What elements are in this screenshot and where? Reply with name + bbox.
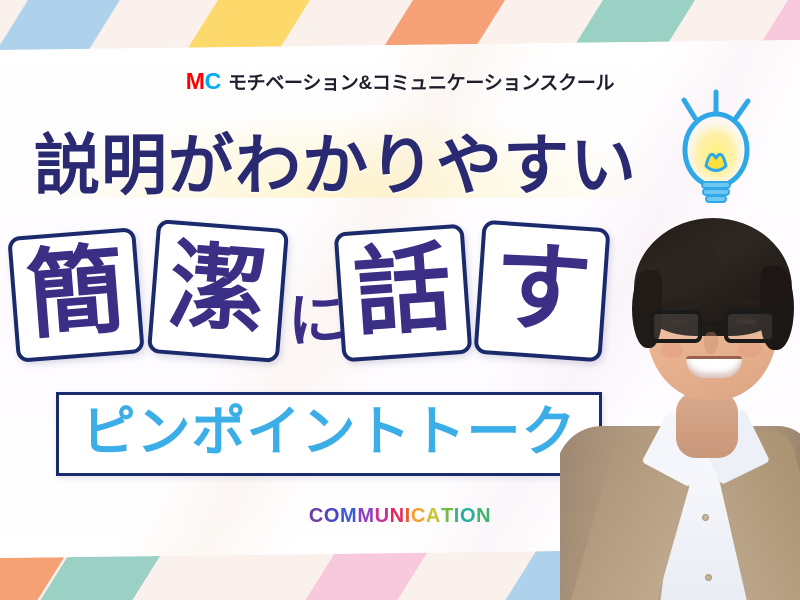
wordmark-letter: N (476, 505, 491, 528)
logo-letter-m: M (186, 68, 205, 94)
kanji-box-3: 話 (334, 224, 473, 363)
glasses-bridge (702, 322, 724, 326)
neck (676, 392, 738, 458)
logo-school-name: モチベーション&コミュニケーションスクール (221, 73, 614, 94)
wordmark-letter: T (441, 505, 454, 528)
kanji-box-2: 潔 (147, 219, 289, 363)
stripe (188, 548, 530, 600)
kanji-char-3: 話 (351, 238, 455, 342)
wordmark-letter: M (340, 505, 357, 528)
kanji-box-1: 簡 (7, 227, 144, 363)
nose (704, 332, 718, 354)
shirt-button-1 (702, 514, 709, 521)
shirt-button-2 (705, 574, 712, 581)
wordmark-letter: O (460, 505, 476, 528)
subtitle-text: ピンポイントトーク (82, 405, 577, 459)
wordmark-letter: C (411, 505, 426, 528)
stripe (0, 0, 220, 52)
wordmark-letter: N (390, 505, 405, 528)
lightbulb-icon (662, 84, 774, 204)
wordmark-letter: M (357, 505, 374, 528)
smiling-mouth (686, 356, 742, 378)
instructor-photo (560, 196, 800, 600)
kanji-phrase-row: 簡 潔 に 話 す (0, 214, 640, 374)
banner-canvas: MCモチベーション&コミュニケーションスクール 説明がわかりやすい (0, 0, 800, 600)
page-title: 説明がわかりやすい (34, 112, 637, 208)
wordmark-letter: A (426, 505, 441, 528)
kanji-char-1: 簡 (24, 240, 128, 344)
stripe (68, 0, 410, 52)
kanji-char-2: 潔 (166, 236, 270, 340)
wordmark-letter: C (309, 505, 324, 528)
subtitle-box: ピンポイントトーク (56, 392, 602, 476)
wordmark-letter: O (324, 505, 340, 528)
wordmark-letter: U (375, 505, 390, 528)
glasses-lens-left (650, 310, 702, 343)
logo-letter-c: C (205, 68, 221, 94)
glasses-lens-right (724, 310, 776, 343)
